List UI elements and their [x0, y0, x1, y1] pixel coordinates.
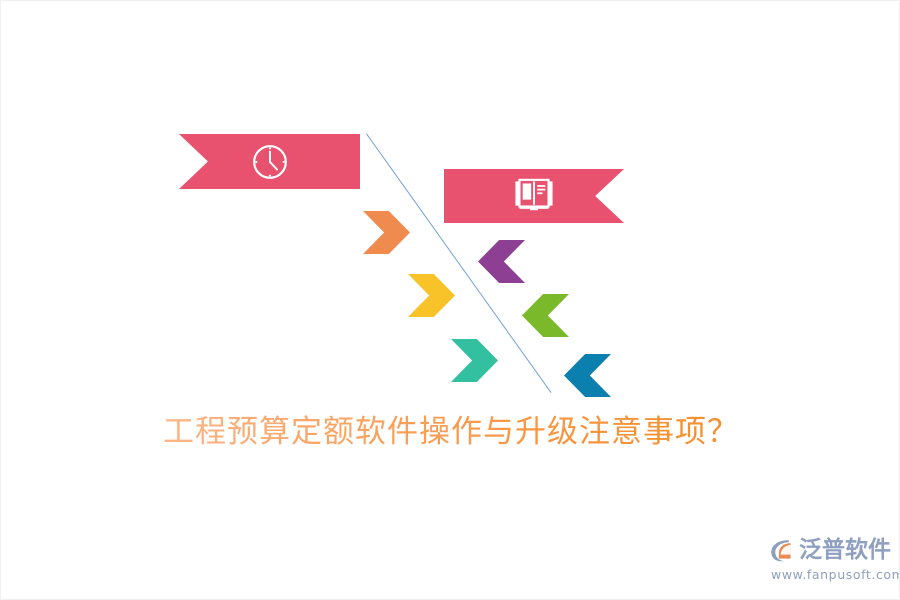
- chevron-orange: [363, 211, 410, 254]
- open-book-icon: [513, 177, 555, 215]
- poster-canvas: 工程预算定额软件操作与升级注意事项？ 泛普软件 www.fanpusoft.co…: [0, 0, 900, 600]
- clock-icon: [250, 142, 290, 182]
- page-title: 工程预算定额软件操作与升级注意事项？: [1, 406, 900, 451]
- banner-book: [444, 169, 624, 223]
- logo-url-text: www.fanpusoft.com: [771, 567, 900, 582]
- chevron-purple: [478, 240, 525, 283]
- chevron-teal: [451, 339, 498, 382]
- logo-brand-text: 泛普软件: [799, 539, 891, 562]
- logo-row: 泛普软件: [769, 537, 891, 564]
- brand-logo: 泛普软件 www.fanpusoft.com: [769, 537, 897, 589]
- fanpu-mark-icon: [769, 537, 796, 564]
- banner-clock: [179, 134, 360, 189]
- chevron-blue: [564, 354, 611, 397]
- chevron-green: [522, 294, 569, 337]
- chevron-yellow: [408, 274, 455, 317]
